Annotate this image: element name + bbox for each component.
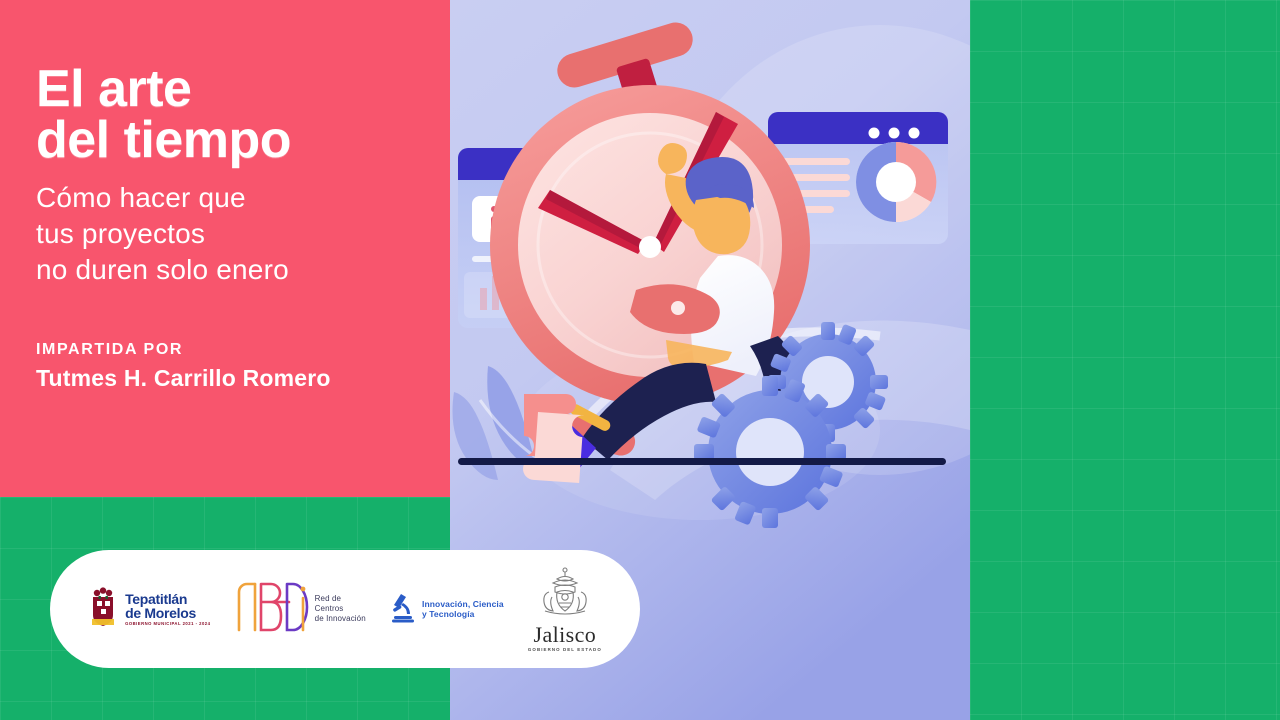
left-text-column: El arte del tiempo Cómo hacer que tus pr…	[36, 64, 436, 392]
speaker-name: Tutmes H. Carrillo Romero	[36, 365, 436, 392]
illustration-puzzle-pieces	[522, 394, 584, 483]
redi-tagline: Red de Centros de Innovación	[315, 594, 366, 625]
redi-line-3: de Innovación	[315, 614, 366, 624]
title-line-1: El arte	[36, 60, 191, 118]
subtitle-line-1: Cómo hacer que	[36, 180, 436, 216]
donut-chart	[856, 142, 936, 222]
logo-innovacion-ciencia-tecnologia: Innovación, Ciencia y Tecnología	[390, 591, 504, 628]
jalisco-tagline: GOBIERNO DEL ESTADO	[528, 647, 602, 652]
event-details-column: JUEVES ENERO 18 19:00-20:30 H REDi	[970, 0, 1280, 720]
redi-wordmark-icon	[235, 576, 309, 643]
tepatitlan-crest-icon	[88, 585, 118, 634]
tepatitlan-wordmark: Tepatitlán de Morelos GOBIERNO MUNICIPAL…	[125, 592, 210, 626]
page-subtitle: Cómo hacer que tus proyectos no duren so…	[36, 180, 436, 287]
title-line-2: del tiempo	[36, 115, 436, 166]
poster-root: El arte del tiempo Cómo hacer que tus pr…	[0, 0, 1280, 720]
subtitle-line-3: no duren solo enero	[36, 252, 436, 288]
speaker-block: IMPARTIDA POR Tutmes H. Carrillo Romero	[36, 341, 436, 392]
ict-line-1: Innovación, Ciencia	[422, 599, 504, 609]
tepatitlan-line-2: de Morelos	[125, 606, 210, 620]
ict-wordmark: Innovación, Ciencia y Tecnología	[422, 599, 504, 619]
tepatitlan-line-3: GOBIERNO MUNICIPAL 2021 - 2024	[125, 622, 210, 626]
logo-tepatitlan-de-morelos: Tepatitlán de Morelos GOBIERNO MUNICIPAL…	[88, 585, 210, 634]
speaker-label: IMPARTIDA POR	[36, 341, 436, 359]
microscope-icon	[390, 591, 416, 628]
logo-redi: Red de Centros de Innovación	[235, 576, 366, 643]
redi-line-1: Red de	[315, 594, 366, 604]
subtitle-line-2: tus proyectos	[36, 216, 436, 252]
sponsor-logo-bar: Tepatitlán de Morelos GOBIERNO MUNICIPAL…	[50, 550, 640, 668]
page-title: El arte del tiempo	[36, 64, 436, 166]
ict-line-2: y Tecnología	[422, 609, 504, 619]
jalisco-crest-icon	[537, 566, 593, 623]
illustration-ground-line	[458, 458, 946, 465]
redi-line-2: Centros	[315, 604, 366, 614]
tepatitlan-line-1: Tepatitlán	[125, 592, 210, 606]
jalisco-wordmark: Jalisco	[534, 624, 597, 646]
logo-jalisco: Jalisco GOBIERNO DEL ESTADO	[528, 566, 602, 652]
